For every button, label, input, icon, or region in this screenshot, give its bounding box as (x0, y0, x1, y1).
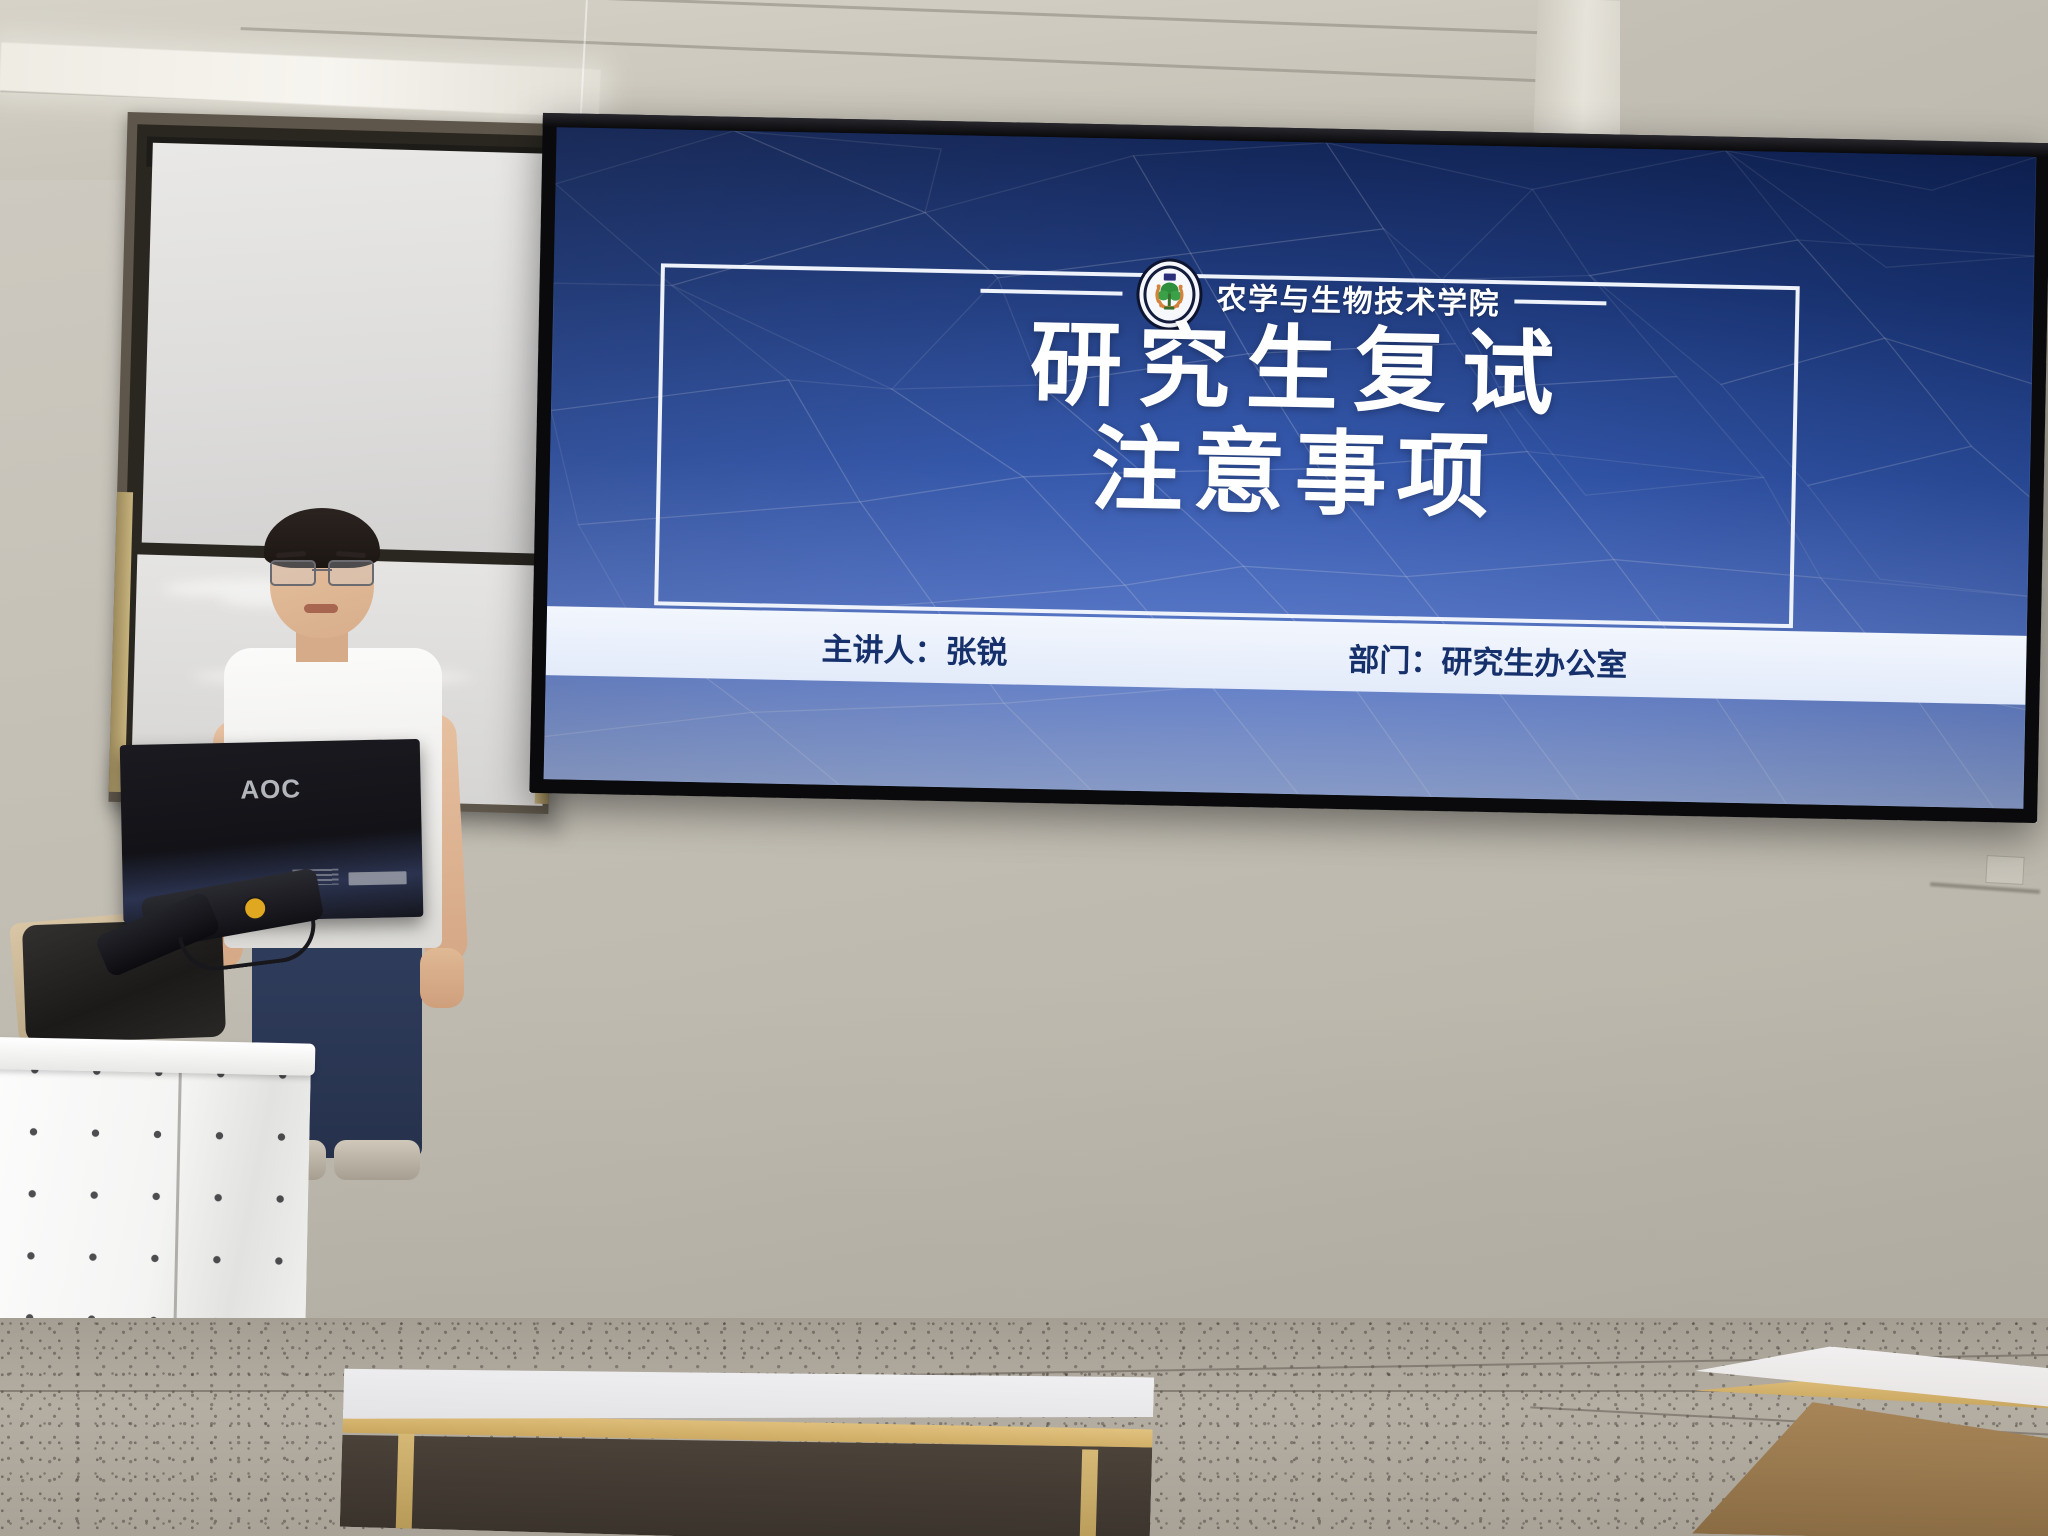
presenter-hand (420, 948, 464, 1008)
slide-department-text: 部门：研究生办公室 (1348, 634, 1628, 685)
frame-tick-right (1514, 300, 1606, 306)
slide-org-name: 农学与生物技术学院 (1216, 274, 1500, 324)
presentation-slide: 农学与生物技术学院 研究生复试 注意事项 主讲人：张锐 部门：研究生办公室 (544, 127, 2037, 809)
glasses-bridge (312, 569, 332, 571)
lens-right (328, 560, 374, 586)
lectern-top-surface[interactable] (0, 1036, 315, 1075)
eyeglasses (270, 560, 374, 582)
student-desk-front[interactable] (340, 1355, 1154, 1536)
desk-leg (396, 1430, 415, 1528)
wall-outlet (1985, 855, 2024, 885)
monitor-sticker (348, 871, 406, 885)
frame-tick-left (981, 289, 1123, 296)
classroom-scene: 农学与生物技术学院 研究生复试 注意事项 主讲人：张锐 部门：研究生办公室 AO… (0, 0, 2048, 1536)
wall-mounted-led-display[interactable]: 农学与生物技术学院 研究生复试 注意事项 主讲人：张锐 部门：研究生办公室 (529, 113, 2048, 823)
slide-speaker-text: 主讲人：张锐 (821, 623, 1008, 672)
whiteboard-pane-upper (142, 143, 559, 554)
aoc-monitor[interactable]: AOC (120, 739, 425, 965)
monitor-brand-logo: AOC (240, 773, 301, 805)
presenter-mouth (304, 604, 338, 613)
presenter-hair (264, 508, 380, 568)
desk-front-panel (1692, 1400, 2048, 1536)
desk-leg (1079, 1449, 1098, 1536)
lens-left (270, 560, 316, 586)
slide-title-block: 研究生复试 注意事项 (549, 306, 2033, 540)
student-desk-right[interactable] (1692, 1344, 2048, 1536)
presenter-shoe (334, 1140, 420, 1180)
